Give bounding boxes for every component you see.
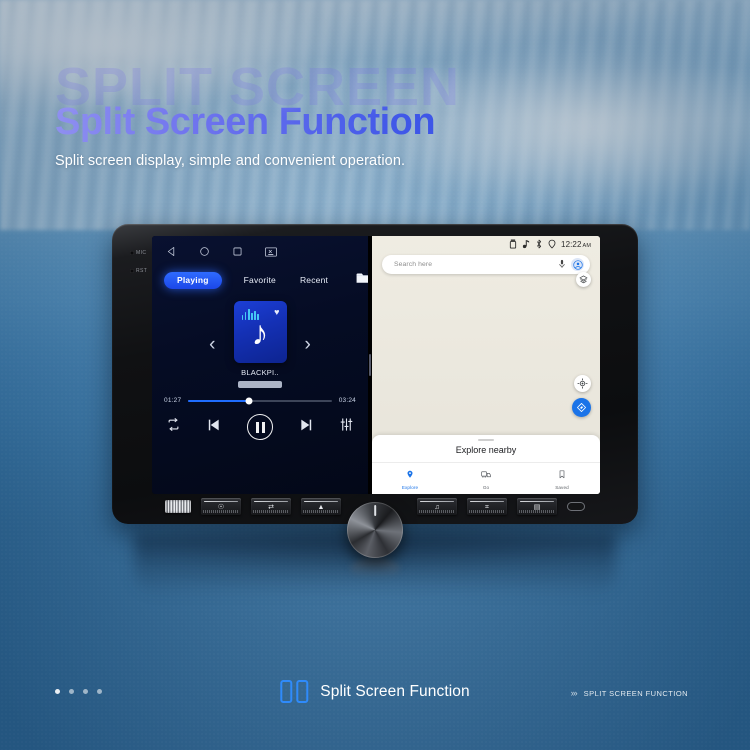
tab-go-label: Go [448,485,524,490]
recents-icon[interactable] [232,244,243,262]
knob-reflection [350,558,400,580]
bluetooth-icon [535,236,543,254]
album-block[interactable]: ♥ ♪ BLACKPI.. [234,301,287,388]
music-tabs[interactable]: Playing Favorite Recent [152,262,368,289]
bookmark-icon [558,470,566,479]
carousel-dot-3[interactable] [83,689,88,694]
audio-port[interactable]: ♫ [417,498,457,515]
footer-feature: Split Screen Function [280,680,469,703]
pause-button[interactable] [247,414,273,440]
seek-thumb[interactable] [245,397,252,404]
commute-icon [481,470,491,479]
equalizer-button[interactable] [339,417,354,437]
search-input[interactable]: Search here [394,261,558,268]
head-unit-screen[interactable]: Playing Favorite Recent ‹ [152,236,600,494]
page-title: Split Screen Function [55,100,695,145]
carousel-dots[interactable] [55,689,102,694]
usb-icon [509,236,517,254]
footer-caption: SPLIT SCREEN FUNCTION [584,689,688,698]
playback-controls[interactable] [152,414,368,440]
music-note-icon: ♪ [252,316,269,350]
usb-port-icon: ⇄ [268,504,274,511]
tab-explore[interactable]: Explore [372,466,448,491]
camera-port[interactable]: ☉ [201,498,241,515]
chevrons-icon: ››› [571,688,577,698]
previous-album-arrow[interactable]: ‹ [209,335,215,354]
mic-label: MIC [136,250,146,256]
explore-nearby-title[interactable]: Explore nearby [372,445,600,462]
microphone-icon[interactable] [558,256,566,274]
footer: Split Screen Function ››› SPLIT SCREEN F… [0,678,750,708]
reset-label: RST [136,268,147,274]
split-screen-glyph-icon [280,680,308,703]
split-screen-icon[interactable] [265,244,277,262]
maps-pane[interactable]: 12:22AM Search here [372,236,600,494]
antenna-port-icon: ▲ [318,504,325,511]
map-layers-button[interactable] [576,272,591,287]
video-port[interactable]: ⌗ [467,498,507,515]
aux-port[interactable]: ▤ [517,498,557,515]
album-carousel[interactable]: ‹ ♥ ♪ BLACKPI.. › [152,301,368,388]
music-note-icon [522,236,530,254]
pin-icon [406,470,414,479]
next-track-button[interactable] [298,417,314,438]
footer-feature-label: Split Screen Function [320,683,469,701]
duration-time: 03:24 [339,397,356,404]
song-title: BLACKPI.. [234,368,287,377]
map-bottom-tabs[interactable]: Explore Go Saved [372,462,600,495]
mic-hole-icon [130,251,134,255]
home-icon[interactable] [199,244,210,262]
seek-slider[interactable] [188,400,331,402]
mic-jack-port[interactable] [567,502,585,511]
tab-saved-label: Saved [524,485,600,490]
clock-meridiem: AM [583,243,591,249]
repeat-button[interactable] [166,417,181,437]
artist-name-placeholder [238,381,282,388]
tab-saved[interactable]: Saved [524,466,600,491]
antenna-port[interactable]: ▲ [301,498,341,515]
elapsed-time: 01:27 [164,397,181,404]
previous-track-button[interactable] [206,417,222,438]
status-bar: 12:22AM [372,236,600,253]
video-port-icon: ⌗ [485,504,489,511]
account-avatar-icon[interactable] [571,258,584,271]
carousel-dot-2[interactable] [69,689,74,694]
tab-recent[interactable]: Recent [298,272,330,288]
seek-fill [188,400,248,402]
android-navigation-bar[interactable] [152,236,368,262]
favorite-heart-icon[interactable]: ♥ [274,308,279,317]
clock: 12:22AM [561,240,591,249]
music-player-pane[interactable]: Playing Favorite Recent ‹ [152,236,368,494]
tab-playing[interactable]: Playing [164,272,222,289]
unit-body: MIC RST [112,224,638,524]
carousel-dot-4[interactable] [97,689,102,694]
aux-port-icon: ▤ [534,504,541,511]
footer-caption-group: ››› SPLIT SCREEN FUNCTION [571,688,688,698]
carousel-dot-1[interactable] [55,689,60,694]
tab-go[interactable]: Go [448,466,524,491]
tab-favorite[interactable]: Favorite [242,272,278,288]
seek-row[interactable]: 01:27 03:24 [152,397,368,404]
reset-hole-icon[interactable] [130,269,134,273]
location-icon [548,236,556,254]
sheet-drag-handle[interactable] [478,439,494,441]
back-icon[interactable] [166,244,177,262]
car-head-unit: MIC RST [112,224,638,524]
header: SPLIT SCREEN Split Screen Function Split… [55,60,695,169]
page-subtitle: Split screen display, simple and conveni… [55,153,695,169]
map-search-bar[interactable]: Search here [382,255,590,274]
tab-explore-label: Explore [372,485,448,490]
sd-card-slot[interactable] [165,500,191,513]
volume-knob[interactable] [347,502,403,558]
navigate-button[interactable] [572,398,591,417]
audio-port-icon: ♫ [434,504,439,511]
my-location-button[interactable] [574,375,591,392]
clock-time: 12:22 [561,240,582,249]
usb-port[interactable]: ⇄ [251,498,291,515]
album-art[interactable]: ♥ ♪ [234,301,287,363]
camera-port-icon: ☉ [218,504,224,511]
next-album-arrow[interactable]: › [305,335,311,354]
bottom-sheet[interactable]: Explore nearby Explore Go Saved [372,435,600,494]
